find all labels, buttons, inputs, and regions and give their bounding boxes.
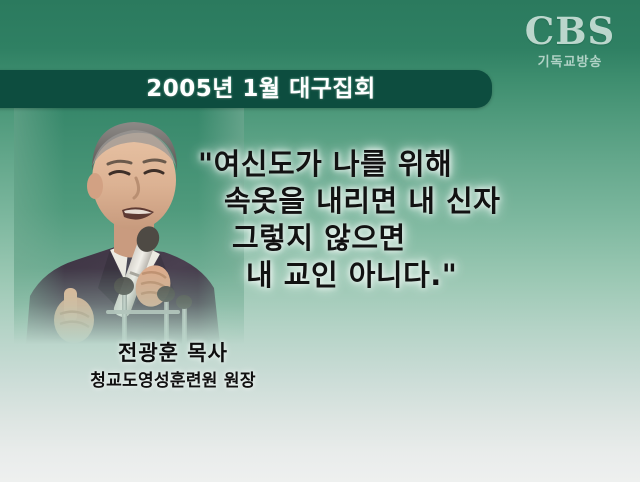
speaker-role: 청교도영성훈련원 원장 [48,370,298,392]
attribution-block: 전광훈 목사 청교도영성훈련원 원장 [48,340,298,392]
network-logo: CBS 기독교방송 [510,14,630,70]
quote-line-3: 그렇지 않으면 [196,220,596,257]
quote-line-2: 속옷을 내리면 내 신자 [196,183,596,220]
quote-line-4: 내 교인 아니다." [196,257,596,294]
cbs-logo-text: CBS [510,14,630,49]
speaker-name: 전광훈 목사 [48,340,298,367]
broadcast-screen: 2005년 1월 대구집회 CBS 기독교방송 "여신도가 나를 위해 속옷을 … [0,0,640,482]
title-banner: 2005년 1월 대구집회 [0,70,492,108]
cbs-logo-subtitle: 기독교방송 [510,51,630,70]
banner-title-text: 2005년 1월 대구집회 [0,70,492,108]
quote-line-1: "여신도가 나를 위해 [196,146,596,183]
quote-block: "여신도가 나를 위해 속옷을 내리면 내 신자 그렇지 않으면 내 교인 아니… [196,146,596,294]
